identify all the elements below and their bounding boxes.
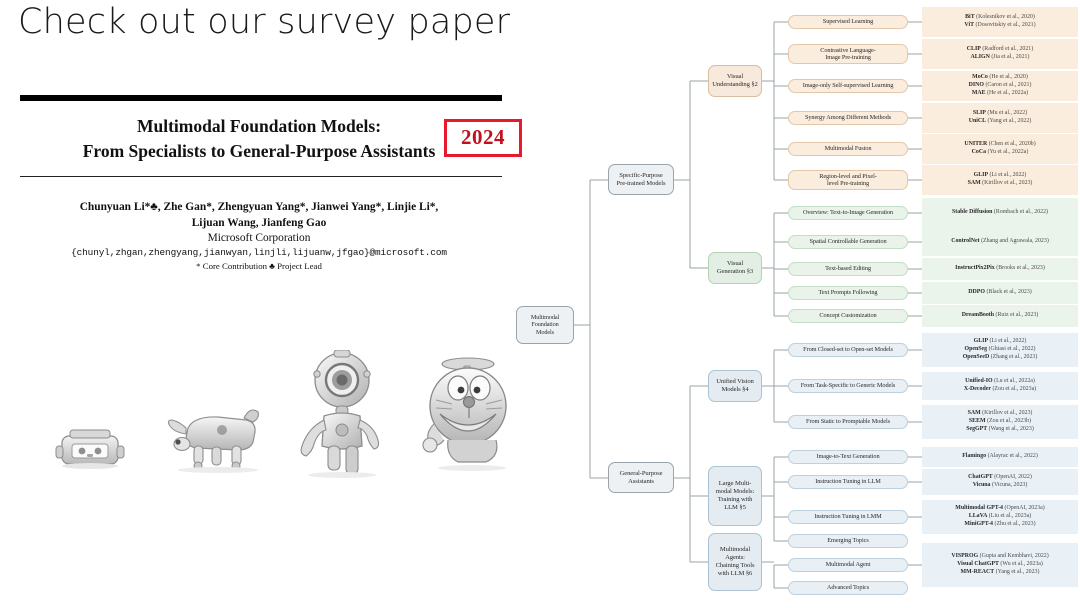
mindmap-reference-block: VISPROG (Gupta and Kembhavi, 2022)Visual…	[922, 543, 1078, 587]
reference-text: GLIP (Li et al., 2022)OpenSeg (Ghiasi et…	[963, 338, 1038, 361]
reference-text: Multimodal GPT-4 (OpenAI, 2023a)LLaVA (L…	[955, 505, 1044, 528]
mindmap-reference-block: MoCo (He et al., 2020)DINO (Caron et al.…	[922, 71, 1078, 101]
mindmap-reference-block: DreamBooth (Ruiz et al., 2023)	[922, 305, 1078, 327]
paper-thumbnail: Multimodal Foundation Models: From Speci…	[18, 95, 518, 271]
topic-label: Instruction Tuning in LMM	[814, 513, 881, 520]
reference-text: UNITER (Chen et al., 2020b)CoCa (Yu et a…	[964, 141, 1035, 157]
reference-text: GLIP (Li et al., 2022)SAM (Kirillov et a…	[968, 172, 1033, 188]
reference-text: SLIP (Mu et al., 2022)UniCL (Yang et al.…	[969, 110, 1032, 126]
mindmap-reference-block: ChatGPT (OpenAI, 2022)Vicuna (Vicuna, 20…	[922, 469, 1078, 495]
topic-label: Instruction Tuning in LLM	[815, 478, 881, 485]
mindmap-reference-block: BiT (Kolesnikov et al., 2020)ViT (Dosovi…	[922, 7, 1078, 37]
mindmap-topic-node[interactable]: Overview: Text-to-Image Generation	[788, 206, 908, 220]
reference-text: ChatGPT (OpenAI, 2022)Vicuna (Vicuna, 20…	[968, 474, 1032, 490]
mindmap-topic-node[interactable]: Spatial Controllable Generation	[788, 235, 908, 249]
reference-text: SAM (Kirillov et al., 2023)SEEM (Zou et …	[966, 410, 1034, 433]
humanoid-robot-icon	[290, 350, 394, 478]
mindmap-category-large-multimodal-models[interactable]: Large Multi- modal Models: Training with…	[708, 466, 762, 526]
mindmap-topic-node[interactable]: Instruction Tuning in LMM	[788, 510, 908, 524]
page-title: Check out our survey paper	[18, 2, 510, 42]
mindmap-topic-node[interactable]: Multimodal Fusion	[788, 142, 908, 156]
mindmap-root-label: Multimodal Foundation Models	[531, 314, 559, 336]
reference-text: BiT (Kolesnikov et al., 2020)ViT (Dosovi…	[964, 14, 1035, 30]
mindmap-reference-block: SLIP (Mu et al., 2022)UniCL (Yang et al.…	[922, 103, 1078, 133]
mindmap-topic-node[interactable]: Emerging Topics	[788, 534, 908, 548]
mindmap-branch-specific-purpose[interactable]: Specific-Purpose Pre-trained Models	[608, 164, 674, 195]
paper-authors-block: Chunyuan Li*♣, Zhe Gan*, Zhengyuan Yang*…	[18, 199, 500, 271]
mindmap-topic-node[interactable]: Region-level and Pixel- level Pre-traini…	[788, 170, 908, 190]
mindmap-topic-node[interactable]: From Closed-set to Open-set Models	[788, 343, 908, 357]
mindmap-reference-block: UNITER (Chen et al., 2020b)CoCa (Yu et a…	[922, 134, 1078, 164]
mindmap-topic-node[interactable]: Text Prompts Following	[788, 286, 908, 300]
toaster-robot-icon	[50, 420, 130, 472]
category-label: Visual Understanding §2	[712, 73, 757, 89]
mindmap-category-unified-vision-models[interactable]: Unified Vision Models §4	[708, 370, 762, 402]
mindmap-topic-node[interactable]: Supervised Learning	[788, 15, 908, 29]
reference-text: DreamBooth (Ruiz et al., 2023)	[962, 312, 1038, 320]
topic-label: Advanced Topics	[827, 584, 869, 591]
mindmap-topic-node[interactable]: Image-only Self-supervised Learning	[788, 79, 908, 93]
mindmap-topic-node[interactable]: Synergy Among Different Methods	[788, 111, 908, 125]
authors-line-1: Chunyuan Li*♣, Zhe Gan*, Zhengyuan Yang*…	[18, 199, 500, 215]
topic-label: Overview: Text-to-Image Generation	[803, 209, 893, 216]
mindmap-reference-block: Unified-IO (Lu et al., 2022a)X-Decoder (…	[922, 372, 1078, 400]
topic-label: Synergy Among Different Methods	[805, 114, 891, 121]
paper-title-line1: Multimodal Foundation Models:	[18, 114, 500, 139]
robot-illustration-row	[40, 348, 510, 478]
category-label: Large Multi- modal Models: Training with…	[716, 480, 754, 511]
topic-label: Multimodal Fusion	[825, 145, 872, 152]
mindmap-reference-block: ControlNet (Zhang and Agrawala, 2023)	[922, 228, 1078, 256]
topic-label: Contrastive Language- Image Pre-training	[820, 47, 875, 62]
topic-label: Spatial Controllable Generation	[810, 238, 887, 245]
mindmap-category-visual-generation[interactable]: Visual Generation §3	[708, 252, 762, 284]
mindmap-reference-block: Stable Diffusion (Rombach et al., 2022)	[922, 198, 1078, 228]
mindmap-topic-node[interactable]: Multimodal Agent	[788, 558, 908, 572]
paper-affiliation: Microsoft Corporation	[18, 232, 500, 244]
paper-title-line2: From Specialists to General-Purpose Assi…	[18, 139, 500, 164]
mindmap-reference-block: Multimodal GPT-4 (OpenAI, 2023a)LLaVA (L…	[922, 500, 1078, 534]
category-label: Visual Generation §3	[717, 260, 753, 276]
slide-canvas: Check out our survey paper Multimodal Fo…	[0, 0, 1080, 608]
authors-line-2: Lijuan Wang, Jianfeng Gao	[18, 215, 500, 231]
mindmap-reference-block: GLIP (Li et al., 2022)OpenSeg (Ghiasi et…	[922, 333, 1078, 367]
reference-text: InstructPix2Pix (Brooks et al., 2023)	[955, 265, 1045, 273]
topic-label: Concept Customization	[819, 312, 876, 319]
reference-text: VISPROG (Gupta and Kembhavi, 2022)Visual…	[951, 553, 1048, 576]
mindmap-category-visual-understanding[interactable]: Visual Understanding §2	[708, 65, 762, 97]
mindmap-reference-block: Flamingo (Alayrac et al., 2022)	[922, 447, 1078, 467]
reference-text: Unified-IO (Lu et al., 2022a)X-Decoder (…	[964, 378, 1036, 394]
topic-label: Image-only Self-supervised Learning	[803, 82, 894, 89]
topic-label: Text Prompts Following	[819, 289, 878, 296]
mindmap-reference-block: CLIP (Radford et al., 2021)ALIGN (Jia et…	[922, 39, 1078, 69]
robot-dog-icon	[160, 398, 270, 474]
topic-label: Region-level and Pixel- level Pre-traini…	[819, 173, 877, 188]
mindmap-reference-block: DDPO (Black et al., 2023)	[922, 282, 1078, 304]
mindmap-reference-block: GLIP (Li et al., 2022)SAM (Kirillov et a…	[922, 165, 1078, 195]
mindmap-root-node[interactable]: Multimodal Foundation Models	[516, 306, 574, 344]
category-label: Multimodal Agents: Chaining Tools with L…	[716, 546, 755, 577]
branch-label: General-Purpose Assistants	[620, 470, 663, 486]
topic-label: Image-to-Text Generation	[816, 453, 879, 460]
paper-title: Multimodal Foundation Models: From Speci…	[18, 114, 500, 164]
mindmap-topic-node[interactable]: Advanced Topics	[788, 581, 908, 595]
paper-rule-top	[20, 95, 502, 101]
reference-text: MoCo (He et al., 2020)DINO (Caron et al.…	[969, 74, 1032, 97]
reference-text: ControlNet (Zhang and Agrawala, 2023)	[951, 238, 1049, 246]
paper-footnote: * Core Contribution ♣ Project Lead	[18, 261, 500, 271]
topic-label: Supervised Learning	[823, 18, 873, 25]
mindmap-reference-block: SAM (Kirillov et al., 2023)SEEM (Zou et …	[922, 405, 1078, 439]
mindmap-topic-node[interactable]: From Task-Specific to Generic Models	[788, 379, 908, 393]
reference-text: CLIP (Radford et al., 2021)ALIGN (Jia et…	[967, 46, 1033, 62]
topic-label: From Closed-set to Open-set Models	[803, 346, 893, 353]
mindmap-category-multimodal-agents[interactable]: Multimodal Agents: Chaining Tools with L…	[708, 533, 762, 591]
mindmap-branch-general-purpose[interactable]: General-Purpose Assistants	[608, 462, 674, 493]
category-label: Unified Vision Models §4	[716, 378, 753, 394]
topic-label: From Static to Promptable Models	[806, 418, 890, 425]
paper-email: {chunyl,zhgan,zhengyang,jianwyan,linjli,…	[18, 247, 500, 258]
reference-text: Flamingo (Alayrac et al., 2022)	[962, 453, 1038, 461]
reference-text: DDPO (Black et al., 2023)	[968, 289, 1032, 297]
mindmap-topic-node[interactable]: Text-based Editing	[788, 262, 908, 276]
topic-label: From Task-Specific to Generic Models	[801, 382, 895, 389]
mindmap-topic-node[interactable]: From Static to Promptable Models	[788, 415, 908, 429]
mindmap-reference-block: InstructPix2Pix (Brooks et al., 2023)	[922, 258, 1078, 280]
topic-label: Multimodal Agent	[826, 561, 871, 568]
topic-label: Emerging Topics	[827, 537, 868, 544]
branch-label: Specific-Purpose Pre-trained Models	[617, 172, 666, 188]
reference-text: Stable Diffusion (Rombach et al., 2022)	[952, 209, 1048, 217]
mindmap-topic-node[interactable]: Instruction Tuning in LLM	[788, 475, 908, 489]
mindmap-topic-node[interactable]: Image-to-Text Generation	[788, 450, 908, 464]
mindmap: Multimodal Foundation Models Specific-Pu…	[498, 0, 1080, 608]
paper-rule-bottom	[20, 176, 502, 177]
topic-label: Text-based Editing	[825, 265, 871, 272]
mindmap-topic-node[interactable]: Concept Customization	[788, 309, 908, 323]
mindmap-topic-node[interactable]: Contrastive Language- Image Pre-training	[788, 44, 908, 64]
